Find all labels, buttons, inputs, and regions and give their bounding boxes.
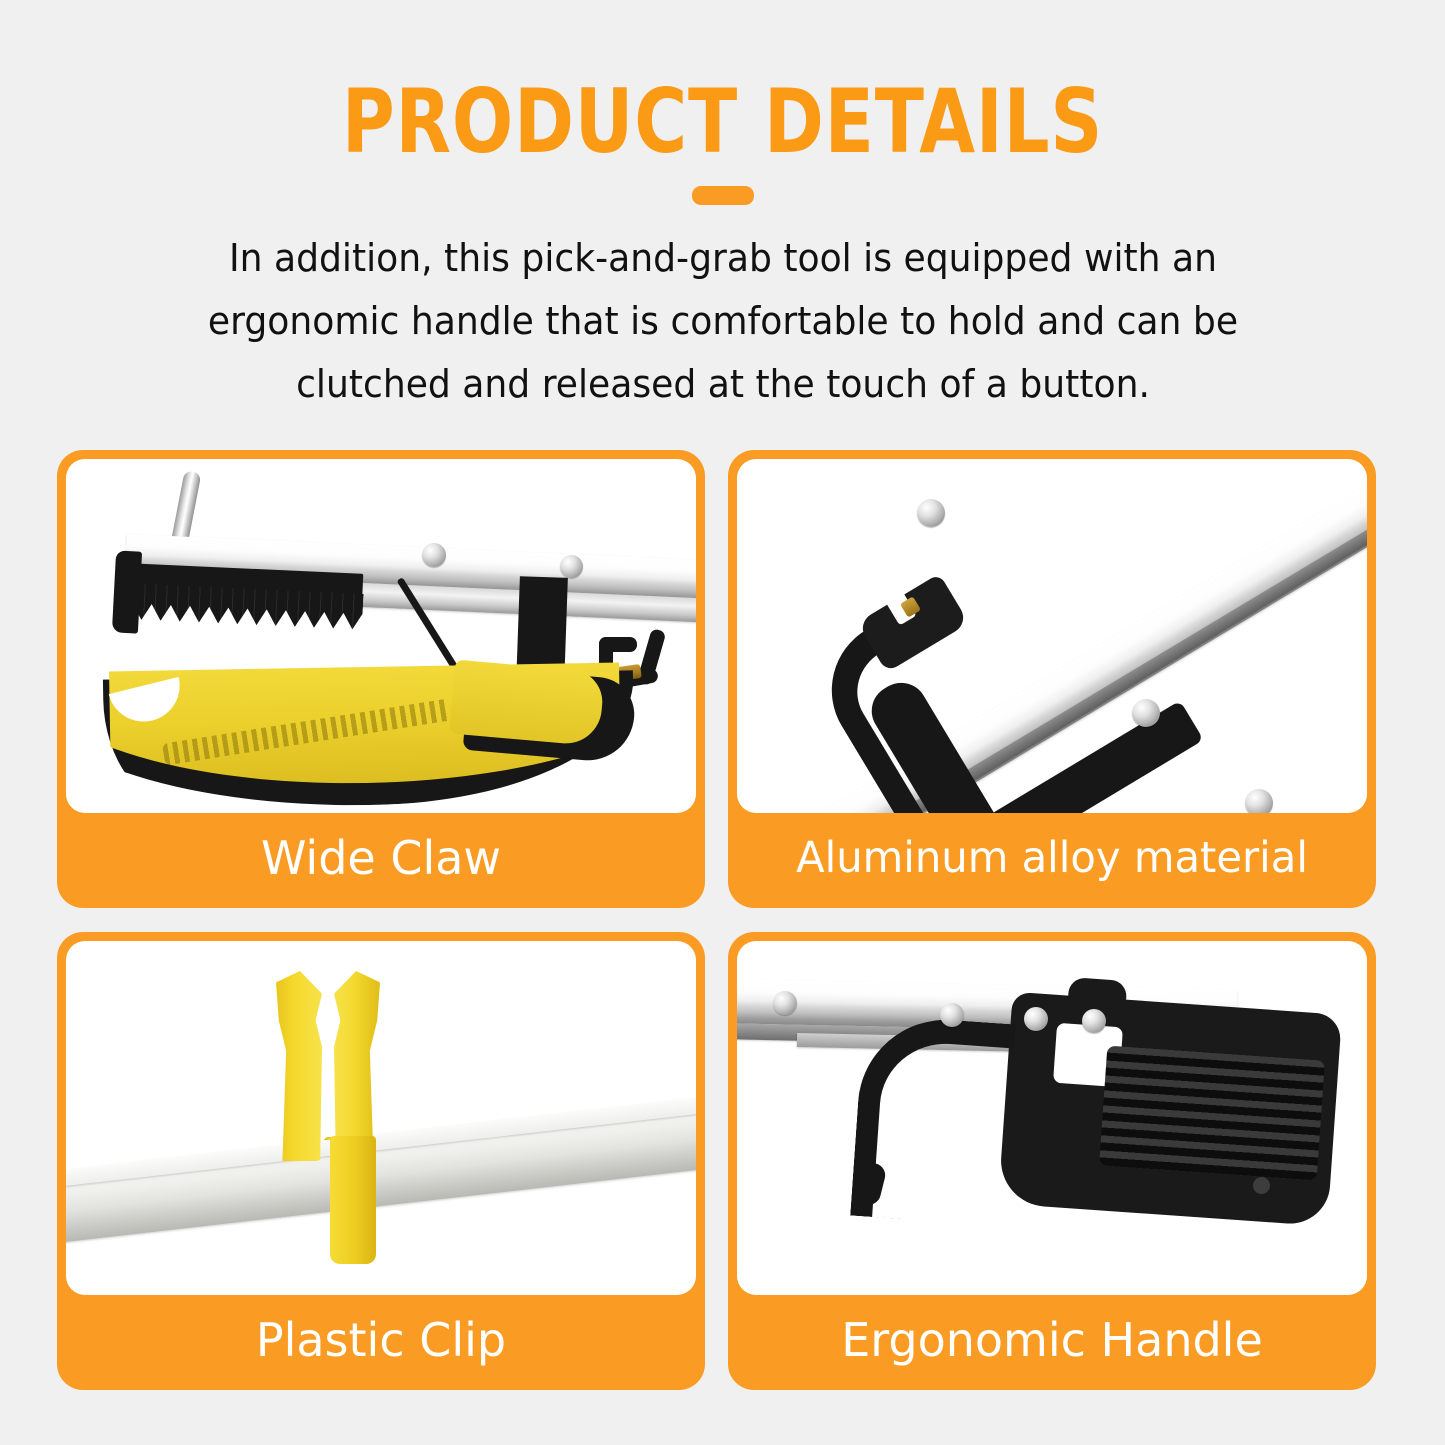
plastic-clip-photo (66, 941, 696, 1295)
claw-tail-yellow (449, 660, 605, 747)
title-divider (692, 186, 754, 205)
hook-segment-b (599, 637, 637, 652)
page-subtitle: In addition, this pick-and-grab tool is … (153, 205, 1293, 416)
feature-card-aluminum-alloy[interactable]: Aluminum alloy material (728, 450, 1376, 908)
aluminum-alloy-photo (737, 459, 1367, 813)
wide-claw-photo (66, 459, 696, 813)
feature-card-grid: Wide Claw Aluminum alloy material (57, 450, 1388, 1390)
card-caption: Wide Claw (66, 813, 696, 908)
jaw-end-cap (112, 550, 142, 633)
aluminum-bar-edge (752, 477, 1367, 813)
jaw-end-notch (66, 459, 88, 471)
card-caption: Aluminum alloy material (746, 813, 1357, 908)
feature-card-plastic-clip[interactable]: Plastic Clip (57, 932, 705, 1390)
aluminum-bar (742, 459, 1367, 813)
feature-card-ergonomic-handle[interactable]: Ergonomic Handle (728, 932, 1376, 1390)
rivet (560, 555, 583, 578)
rivet (1132, 699, 1160, 727)
grip-ribs (1099, 1046, 1325, 1181)
clip-prong-left (276, 971, 322, 1161)
page-title: PRODUCT DETAILS (130, 0, 1315, 170)
card-caption: Plastic Clip (66, 1295, 696, 1390)
rivet (422, 543, 446, 567)
rivet (940, 1003, 964, 1027)
clip-prong-right (334, 971, 380, 1161)
page-header: PRODUCT DETAILS In addition, this pick-a… (0, 0, 1445, 416)
clip-stem (330, 1136, 376, 1264)
rivet (773, 991, 797, 1015)
card-caption: Ergonomic Handle (737, 1295, 1367, 1390)
ergonomic-handle-photo (737, 941, 1367, 1295)
rivet (917, 499, 945, 527)
rivet (1024, 1007, 1048, 1031)
rivet (1082, 1009, 1106, 1033)
rivet (1245, 789, 1273, 813)
feature-card-wide-claw[interactable]: Wide Claw (57, 450, 705, 908)
product-details-page: PRODUCT DETAILS In addition, this pick-a… (0, 0, 1445, 1445)
